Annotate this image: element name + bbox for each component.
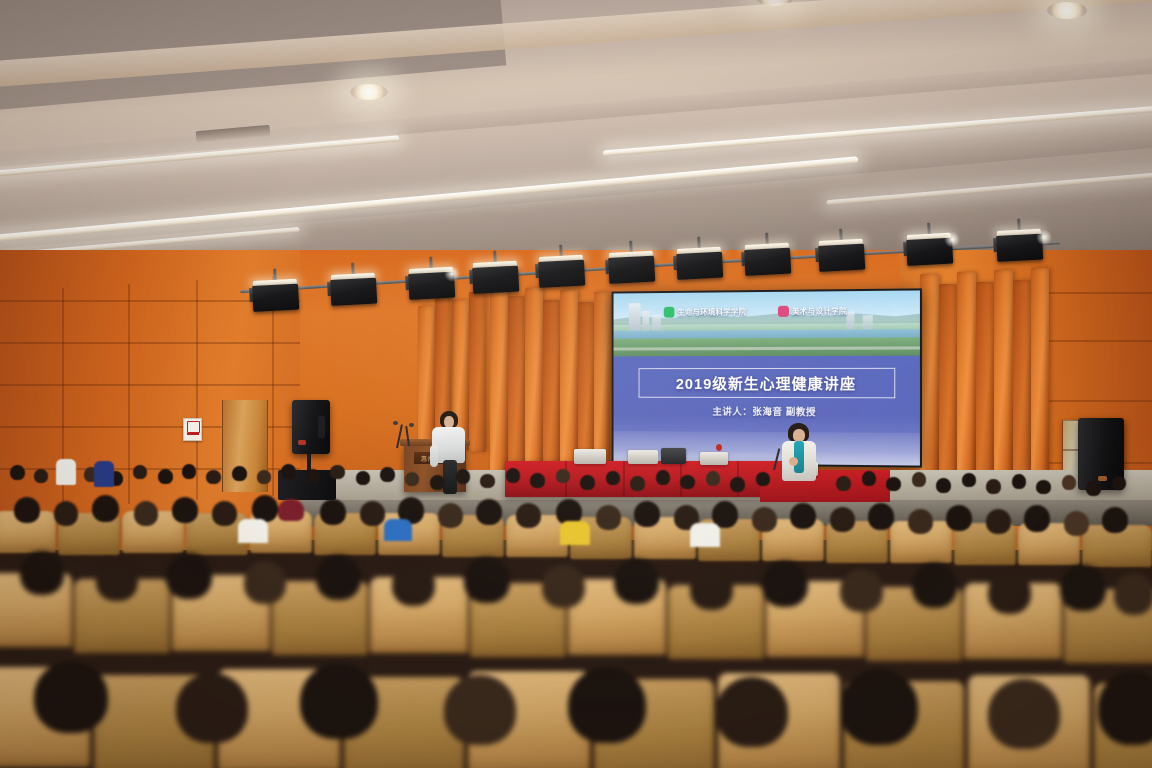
slide-title: 2019级新生心理健康讲座	[676, 372, 856, 393]
wall-slat	[957, 272, 976, 480]
downlight-icon	[1047, 2, 1087, 19]
wall-seam	[0, 384, 300, 386]
wall-slat	[1031, 268, 1049, 480]
slide-title-box: 2019级新生心理健康讲座	[639, 368, 896, 398]
wall-slat	[994, 270, 1013, 480]
wall-slat	[1013, 280, 1031, 480]
downlight-icon	[350, 84, 388, 100]
audience	[0, 455, 1152, 768]
ceiling-light-strip	[826, 172, 1152, 205]
ceiling	[0, 0, 1152, 268]
wall-slat	[976, 282, 994, 480]
microphone-head-icon	[393, 421, 398, 425]
slide-banner-photo: 生命与环境科学学院 美术与设计学院	[614, 290, 920, 356]
projection-screen: 生命与环境科学学院 美术与设计学院 2019级新生心理健康讲座 主讲人：张海音 …	[612, 288, 922, 467]
slide-subtitle: 主讲人：张海音 副教授	[614, 404, 920, 419]
slide-logo-2: 美术与设计学院	[778, 305, 847, 317]
wall-seam	[0, 342, 300, 344]
wall-slat	[418, 306, 435, 446]
slide-logo-2-label: 美术与设计学院	[792, 305, 847, 316]
sign-text-bar	[187, 433, 199, 435]
sign-emblem-icon	[187, 421, 200, 433]
college-palette-icon	[778, 306, 789, 317]
wall-slat	[920, 274, 939, 480]
college-leaf-icon	[664, 307, 675, 318]
slide-logo-row: 生命与环境科学学院 美术与设计学院	[614, 305, 920, 321]
slide-logo-1: 生命与环境科学学院	[664, 306, 747, 318]
microphone-head-icon	[409, 423, 414, 427]
auditorium-photo: 生命与环境科学学院 美术与设计学院 2019级新生心理健康讲座 主讲人：张海音 …	[0, 0, 1152, 768]
wall-slat	[490, 286, 508, 482]
slide-surface: 生命与环境科学学院 美术与设计学院 2019级新生心理健康讲座 主讲人：张海音 …	[614, 290, 920, 465]
left-pa-speaker	[292, 400, 330, 454]
slide-logo-1-label: 生命与环境科学学院	[677, 306, 746, 317]
wall-notice-sign	[183, 418, 202, 441]
wall-slat	[939, 284, 957, 482]
wall-slat	[469, 292, 486, 452]
indicator-light	[716, 444, 722, 451]
